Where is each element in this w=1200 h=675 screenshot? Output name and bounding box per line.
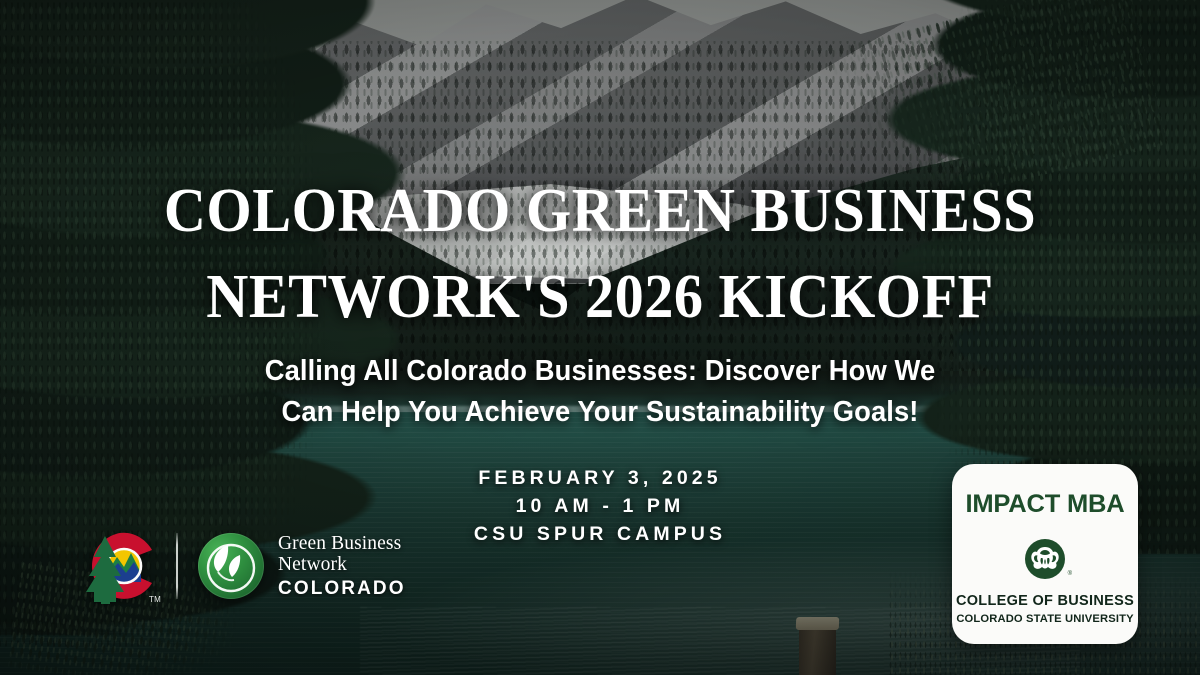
title-line-1: COLORADO GREEN BUSINESS: [36, 168, 1164, 254]
impact-mba-title: IMPACT MBA: [966, 490, 1125, 519]
university-name: COLORADO STATE UNIVERSITY: [956, 613, 1133, 625]
event-promo-poster: COLORADO GREEN BUSINESS NETWORK'S 2026 K…: [0, 0, 1200, 675]
college-name: COLLEGE OF BUSINESS: [956, 593, 1134, 609]
poster-subtitle: Calling All Colorado Businesses: Discove…: [0, 351, 1200, 433]
gbn-line-3: COLORADO: [278, 577, 406, 600]
gbn-wordmark: Green Business Network COLORADO: [278, 533, 406, 600]
green-business-network-logo: Green Business Network COLORADO: [198, 533, 406, 600]
title-line-2: NETWORK'S 2026 KICKOFF: [36, 254, 1164, 340]
subtitle-line-1: Calling All Colorado Businesses: Discove…: [24, 351, 1176, 392]
gbn-line-2: Network: [278, 554, 406, 576]
sponsor-logo-row: TM Green Business Network COLORADO: [74, 525, 406, 607]
registered-mark: ®: [1068, 571, 1072, 577]
trademark-symbol: TM: [149, 595, 161, 604]
csu-ram-logo: ®: [1024, 538, 1066, 580]
impact-mba-card: IMPACT MBA ® COLLEGE OF BUSINESS COLORAD…: [952, 464, 1138, 644]
csu-ram-icon: [1024, 538, 1066, 580]
colorado-c-icon: [74, 526, 162, 606]
logo-divider: [176, 533, 178, 599]
gbn-line-1: Green Business: [278, 533, 406, 555]
leaf-pair-icon: [198, 533, 264, 599]
gbn-badge: [198, 533, 264, 599]
colorado-state-c-logo: TM: [74, 526, 162, 606]
poster-title: COLORADO GREEN BUSINESS NETWORK'S 2026 K…: [0, 168, 1200, 340]
subtitle-line-2: Can Help You Achieve Your Sustainability…: [24, 392, 1176, 433]
